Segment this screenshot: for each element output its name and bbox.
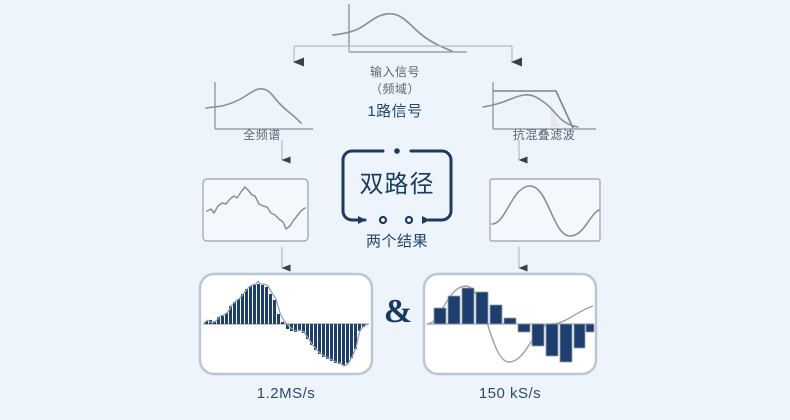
dual-path-badge-label: 双路径 <box>342 164 452 199</box>
input-signal-caption-line1: 输入信号 <box>309 63 481 80</box>
bars-high-rate <box>205 284 365 365</box>
input-signal-chart <box>333 4 467 52</box>
top-split-bus <box>294 46 512 62</box>
result-panel-high-rate <box>200 274 372 374</box>
anti-alias-filter-chart <box>483 82 596 129</box>
bars-low-rate <box>434 288 594 362</box>
input-signal-caption-line2: （频域） <box>309 80 481 97</box>
dual-path-badge: 双路径 <box>342 148 452 228</box>
anti-alias-filter-caption: 抗混叠滤波 <box>488 126 600 143</box>
diagram-canvas: 输入信号 （频域） 1路信号 全频谱 抗混叠滤波 双路径 两个结果 & 1.2M… <box>0 0 790 420</box>
sine-waveform-panel <box>490 179 600 241</box>
dual-path-badge-sublabel: 两个结果 <box>342 230 452 251</box>
result-rate-high: 1.2MS/s <box>200 385 372 402</box>
noisy-waveform-panel <box>203 179 308 241</box>
ampersand-separator: & <box>381 293 415 331</box>
result-panel-low-rate <box>424 274 596 374</box>
full-spectrum-caption: 全频谱 <box>212 126 312 143</box>
result-rate-low: 150 kS/s <box>424 385 596 402</box>
full-spectrum-chart <box>206 82 313 129</box>
input-signal-count-label: 1路信号 <box>309 100 481 121</box>
